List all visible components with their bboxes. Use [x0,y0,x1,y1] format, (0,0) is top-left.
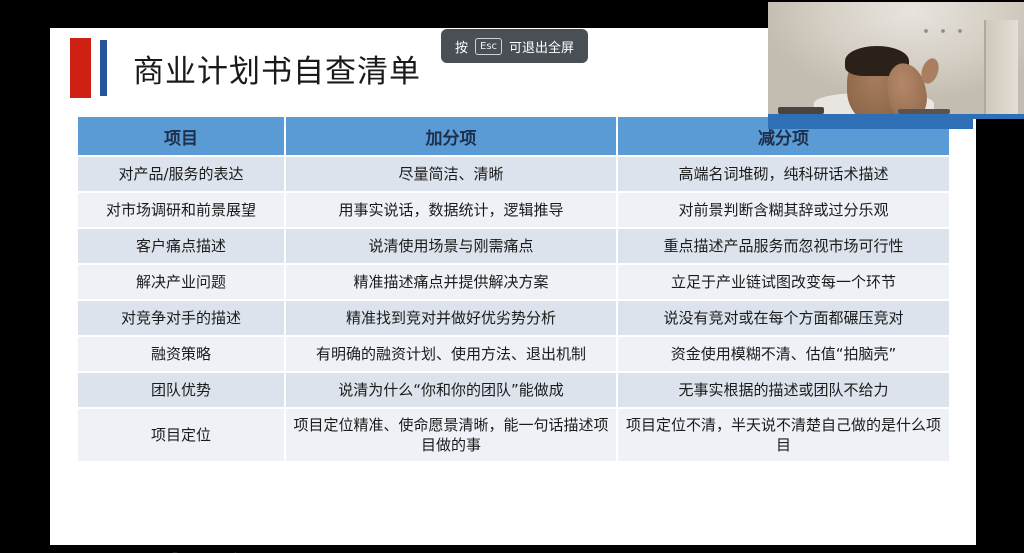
table-row: 对产品/服务的表达 尽量简洁、清晰 高端名词堆砌，纯科研话术描述 [78,157,949,193]
cell-minus: 无事实根据的描述或团队不给力 [618,373,949,409]
cell-item: 团队优势 [78,373,286,409]
esc-hint-suffix: 可退出全屏 [509,37,574,56]
cell-item: 融资策略 [78,337,286,373]
cell-item: 项目定位 [78,409,286,461]
slide-title-row: 商业计划书自查清单 [70,36,421,100]
table-row: 解决产业问题 精准描述痛点并提供解决方案 立足于产业链试图改变每一个环节 [78,265,949,301]
cell-minus: 对前景判断含糊其辞或过分乐观 [618,193,949,229]
cell-plus: 精准描述痛点并提供解决方案 [286,265,618,301]
cell-plus: 用事实说话，数据统计，逻辑推导 [286,193,618,229]
fullscreen-presentation-screen: 商业计划书自查清单 项目 加分项 减分项 对产品/服务的表达 尽量简洁、清晰 高… [0,0,1024,553]
cell-minus: 资金使用模糊不清、估值“拍脑壳” [618,337,949,373]
cell-item: 对产品/服务的表达 [78,157,286,193]
cell-plus: 尽量简洁、清晰 [286,157,618,193]
exit-fullscreen-hint: 按 Esc 可退出全屏 [441,29,588,63]
title-accent-blue-bar [100,40,107,96]
table-row: 对市场调研和前景展望 用事实说话，数据统计，逻辑推导 对前景判断含糊其辞或过分乐… [78,193,949,229]
table-row: 项目定位 项目定位精准、使命愿景清晰，能一句话描述项目做的事 项目定位不清，半天… [78,409,949,461]
cell-minus: 重点描述产品服务而忽视市场可行性 [618,229,949,265]
cell-plus: 有明确的融资计划、使用方法、退出机制 [286,337,618,373]
cell-item: 对市场调研和前景展望 [78,193,286,229]
cell-item: 解决产业问题 [78,265,286,301]
esc-key-badge: Esc [475,38,502,55]
cell-item: 对竞争对手的描述 [78,301,286,337]
table-row: 客户痛点描述 说清使用场景与刚需痛点 重点描述产品服务而忽视市场可行性 [78,229,949,265]
desk-object-left [778,107,824,114]
page-title: 商业计划书自查清单 [133,46,421,91]
table-row: 对竞争对手的描述 精准找到竞对并做好优劣势分析 说没有竞对或在每个方面都碾压竞对 [78,301,949,337]
cell-minus: 项目定位不清，半天说不清楚自己做的是什么项目 [618,409,949,461]
cell-minus: 高端名词堆砌，纯科研话术描述 [618,157,949,193]
video-background-door [984,20,1018,119]
presenter-video-overlay[interactable] [768,2,1024,119]
cell-plus: 精准找到竞对并做好优劣势分析 [286,301,618,337]
column-header-item: 项目 [78,117,286,157]
video-background-dots [922,28,964,34]
esc-hint-prefix: 按 [455,37,468,56]
column-header-plus: 加分项 [286,117,618,157]
cell-minus: 说没有竞对或在每个方面都碾压竞对 [618,301,949,337]
cell-plus: 说清使用场景与刚需痛点 [286,229,618,265]
cell-minus: 立足于产业链试图改变每一个环节 [618,265,949,301]
checklist-table: 项目 加分项 减分项 对产品/服务的表达 尽量简洁、清晰 高端名词堆砌，纯科研话… [78,117,949,461]
table-row: 团队优势 说清为什么“你和你的团队”能做成 无事实根据的描述或团队不给力 [78,373,949,409]
title-accent-red-bar [70,38,91,98]
video-bottom-strip [768,119,973,129]
cell-plus: 说清为什么“你和你的团队”能做成 [286,373,618,409]
cell-plus: 项目定位精准、使命愿景清晰，能一句话描述项目做的事 [286,409,618,461]
cell-item: 客户痛点描述 [78,229,286,265]
table-row: 融资策略 有明确的融资计划、使用方法、退出机制 资金使用模糊不清、估值“拍脑壳” [78,337,949,373]
